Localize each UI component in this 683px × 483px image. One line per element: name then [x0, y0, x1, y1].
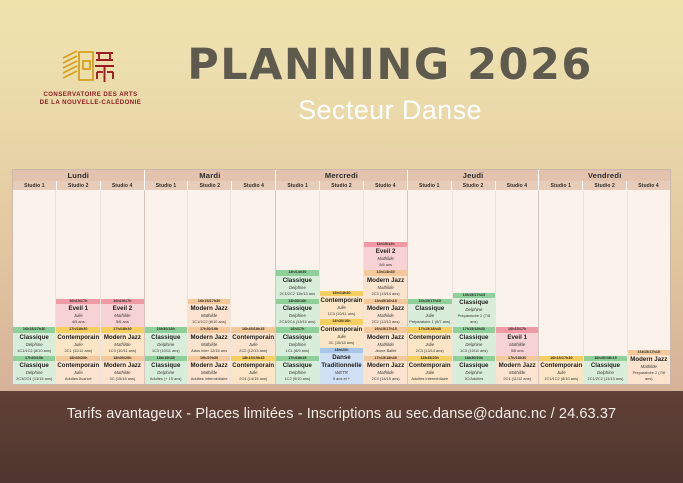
course-name: Classique	[146, 362, 186, 370]
day-header-mardi: Mardi	[145, 170, 277, 181]
course-block[interactable]: 18h30/20hModern JazzMathilde3C (15/18 an…	[101, 356, 143, 384]
course-level: 2C4 (14/15 ans)	[232, 376, 274, 382]
course-name: Classique	[146, 334, 186, 342]
studio-header: Studio 1	[408, 181, 452, 190]
course-body: ContemporainJulie3C (15/18 ans)	[320, 325, 364, 348]
course-block[interactable]: 16h15/17h15Modern JazzMathildeJeune Ball…	[364, 327, 406, 355]
conservatoire-logo-icon	[61, 48, 121, 86]
studio-header: Studio 1	[276, 181, 320, 190]
course-name: Contemporain	[321, 326, 363, 334]
studio-column: 16h15/17h30ContemporainJulie1C1/1C2 (8/1…	[539, 190, 584, 384]
course-body: Danse TraditionnelleWETR5 ans et +	[320, 353, 364, 384]
course-body: Modern JazzMathildeAdultes Intermédiaire	[188, 361, 230, 384]
course-body: Modern JazzMathilde2C4 (14/15 ans)	[364, 361, 406, 384]
schedule-grid: 16h15/17h30ClassiqueDelphine1C1/1C2 (8/1…	[13, 190, 670, 384]
course-body: ClassiqueDelphine2C3/2C4 (13/15 ans)	[276, 304, 318, 327]
course-body: ClassiqueDelphine2C1/2C2 11h/13 ans	[276, 276, 318, 299]
footer-contact-text: Tarifs avantageux - Places limitées - In…	[67, 406, 616, 422]
logo-line-2: DE LA NOUVELLE-CALÉDONIE	[40, 99, 142, 107]
course-level: 2C1 (11/12 ans)	[497, 376, 537, 382]
day-column-vendredi: 16h15/17h30ContemporainJulie1C1/1C2 (8/1…	[539, 190, 670, 384]
course-name: Modern Jazz	[365, 334, 405, 342]
course-body: ContemporainJulie1C3 (10/11 ans)	[320, 296, 364, 319]
studio-column: 16h15/17hEveil 2Mathilde5/6 ans17h/18h30…	[101, 190, 143, 384]
column-spacer	[584, 190, 626, 356]
course-name: Eveil 2	[102, 305, 142, 313]
course-level: Adultes Avancé	[57, 376, 99, 382]
course-level: Adultes Intermédiaire	[409, 376, 451, 382]
course-body: Eveil 1Mathilde5/6 ans	[496, 333, 538, 356]
course-block[interactable]: 16h15/17hEveil 1Mathilde5/6 ans	[496, 327, 538, 355]
course-name: Modern Jazz	[189, 305, 229, 313]
column-spacer	[231, 190, 275, 327]
course-level: Préparatoire 1 (6/7 ans)	[409, 319, 451, 325]
course-name: Contemporain	[232, 362, 274, 370]
course-level: Préparatoire 2 (7/8 ans)	[454, 313, 494, 325]
course-block[interactable]: 13h/14h30ContemporainJulie1C3 (10/11 ans…	[320, 291, 364, 319]
course-name: Danse Traditionnelle	[321, 354, 363, 370]
day-column-mardi: 16h30/18hClassiqueDelphine1C3 (10/11 ans…	[145, 190, 277, 384]
course-block[interactable]: 18h30/20hContemporainJulieAdultes Avancé	[56, 356, 100, 384]
course-level: 3C (15/18 ans)	[321, 340, 363, 346]
course-body: ClassiqueDelphine1C3 (10/11 ans)	[453, 333, 495, 356]
course-level: 2C3 (13/14 ans)	[409, 348, 451, 354]
course-level: 2C1/2C2 11h/13 ans	[277, 291, 317, 297]
course-body: ContemporainJulie2C4 (14/15 ans)	[231, 361, 275, 384]
course-level: 2C1 (11/12 ans)	[57, 348, 99, 354]
course-block[interactable]: 14h45/16h15Modern JazzMathilde2C2 (12/13…	[364, 299, 406, 327]
studio-header: Studio 2	[583, 181, 627, 190]
course-body: Modern JazzMathilde1C3 (10/11 ans)	[101, 333, 143, 356]
course-block[interactable]: 18h/19h30ClassiqueDelphineAdultes (+ 15 …	[145, 356, 187, 384]
course-body: Eveil 2Mathilde5/6 ans	[101, 304, 143, 327]
course-block[interactable]: 16h30/18hClassiqueDelphine1C3 (10/11 ans…	[145, 327, 187, 355]
course-body: Eveil 1Julie4/5 ans	[56, 304, 100, 327]
course-block[interactable]: 17h/18h30Modern JazzMathilde1C3 (10/11 a…	[101, 327, 143, 355]
studio-header-group-jeudi: Studio 1Studio 2Studio 4	[408, 181, 540, 190]
column-spacer	[628, 190, 670, 350]
course-name: Classique	[14, 334, 54, 342]
course-name: Contemporain	[409, 334, 451, 342]
column-spacer	[408, 190, 452, 299]
column-spacer	[188, 190, 230, 299]
course-level: 5/6 ans	[497, 348, 537, 354]
course-body: Modern JazzMathildeJeune Ballet	[364, 333, 406, 356]
course-body: ClassiqueDelphine3C/Adultes	[453, 361, 495, 384]
course-block[interactable]: 19h/20h30Modern JazzMathildeAdultes Inte…	[188, 356, 230, 384]
studio-column: 13h/14h30ContemporainJulie1C3 (10/11 ans…	[320, 190, 365, 384]
course-body: Modern JazzMathilde2C1 (11/12 ans)	[496, 361, 538, 384]
course-name: Classique	[454, 334, 494, 342]
logo-line-1: CONSERVATOIRE DES ARTS	[40, 91, 142, 99]
course-block[interactable]: 17h15/18h45ContemporainJulie2C3 (13/14 a…	[408, 327, 452, 355]
course-name: Classique	[277, 277, 317, 285]
course-name: Classique	[585, 362, 625, 370]
studio-header-group-mercredi: Studio 1Studio 2Studio 4	[276, 181, 408, 190]
studio-header-group-vendredi: Studio 1Studio 2Studio 4	[539, 181, 670, 190]
course-level: Adultes (+ 15 ans)	[146, 376, 186, 382]
course-block[interactable]: 17h15/18h45Modern JazzMathilde2C4 (14/15…	[364, 356, 406, 384]
course-name: Classique	[277, 362, 317, 370]
course-level: 1C1/1C2 (8/10 ans)	[189, 319, 229, 325]
course-block[interactable]: 16h15/17hEveil 2Mathilde5/6 ans	[101, 299, 143, 327]
course-name: Modern Jazz	[189, 362, 229, 370]
poster-footer: Tarifs avantageux - Places limitées - In…	[0, 391, 683, 483]
course-level: 1C1/1C2 (8/10 ans)	[540, 376, 582, 382]
course-body: Modern JazzMathildeAdos Inter 12/15 ans	[188, 333, 230, 356]
column-spacer	[101, 190, 143, 299]
day-header-lundi: Lundi	[13, 170, 145, 181]
studio-header: Studio 4	[496, 181, 539, 190]
course-name: Modern Jazz	[629, 356, 669, 364]
studio-header: Studio 4	[364, 181, 407, 190]
course-block[interactable]: 16h15/17h15Modern JazzMathildePréparatoi…	[628, 350, 670, 384]
course-name: Contemporain	[57, 334, 99, 342]
course-block[interactable]: 17h/18h30Modern JazzMathilde2C1 (11/12 a…	[496, 356, 538, 384]
studio-header: Studio 2	[452, 181, 496, 190]
course-body: ClassiqueDelphinePréparatoire 2 (7/8 ans…	[453, 298, 495, 327]
course-body: ClassiqueJuliePréparatoire 1 (6/7 ans)	[408, 304, 452, 327]
course-name: Contemporain	[57, 362, 99, 370]
course-name: Eveil 2	[365, 248, 405, 256]
course-block[interactable]: 16h15/17h15ClassiqueDelphinePréparatoire…	[453, 293, 495, 327]
course-body: ContemporainJulie2C3 (13/14 ans)	[408, 333, 452, 356]
course-name: Contemporain	[540, 362, 582, 370]
course-level: 2C3 (13/14 ans)	[365, 291, 405, 297]
day-header-jeudi: Jeudi	[408, 170, 540, 181]
course-body: Modern JazzMathilde2C2 (12/13 ans)	[364, 304, 406, 327]
studio-column: 16h45/18h15ContemporainJulie2C2 (12/13 a…	[231, 190, 275, 384]
course-name: Classique	[454, 299, 494, 307]
studio-header: Studio 1	[145, 181, 189, 190]
course-block[interactable]: 17h30/19hClassiqueDelphine2C3/2C4 (13/15…	[13, 356, 55, 384]
studio-column: 16h15/17hEveil 1Julie4/5 ans17h/18h30Con…	[56, 190, 101, 384]
course-level: Jeune Ballet	[365, 348, 405, 354]
studio-column: 16h30/18hClassiqueDelphine1C3 (10/11 ans…	[145, 190, 188, 384]
course-name: Modern Jazz	[102, 334, 142, 342]
course-level: 2C2 (12/13 ans)	[232, 348, 274, 354]
column-spacer	[276, 190, 318, 270]
course-name: Contemporain	[321, 297, 363, 305]
day-header-row: LundiMardiMercrediJeudiVendredi	[13, 170, 670, 181]
course-block[interactable]: 16h/17hClassiqueDelphine1C1 (8/9 ans)	[276, 327, 318, 355]
course-block[interactable]: 11h15/12hEveil 2Mathilde5/6 ans	[364, 242, 406, 270]
course-level: Préparatoire 2 (7/8 ans)	[629, 370, 669, 382]
course-level: 1C3 (10/11 ans)	[146, 348, 186, 354]
column-spacer	[56, 190, 100, 299]
column-spacer	[539, 190, 583, 356]
studio-header: Studio 1	[13, 181, 57, 190]
course-block[interactable]: 14h30/16hContemporainJulie3C (15/18 ans)	[320, 319, 364, 347]
course-name: Modern Jazz	[102, 362, 142, 370]
column-spacer	[320, 190, 364, 291]
studio-header: Studio 2	[57, 181, 101, 190]
course-level: 2C2 (12/13 ans)	[365, 319, 405, 325]
course-level: 4/5 ans	[57, 319, 99, 325]
course-block[interactable]: 13h/14h30ClassiqueDelphine2C1/2C2 11h/13…	[276, 270, 318, 298]
column-spacer	[145, 190, 187, 327]
course-body: ClassiqueDelphine1C2 (9/10 ans)	[276, 361, 318, 384]
day-header-mercredi: Mercredi	[276, 170, 408, 181]
studio-header: Studio 4	[232, 181, 275, 190]
course-level: 5/6 ans	[365, 262, 405, 268]
planning-poster: CONSERVATOIRE DES ARTS DE LA NOUVELLE-CA…	[0, 0, 683, 483]
column-spacer	[453, 190, 495, 293]
studio-header: Studio 2	[320, 181, 364, 190]
studio-column: 16h15/17h15ClassiqueJuliePréparatoire 1 …	[408, 190, 453, 384]
conservatoire-logo: CONSERVATOIRE DES ARTS DE LA NOUVELLE-CA…	[18, 48, 163, 107]
course-name: Modern Jazz	[497, 362, 537, 370]
course-name: Modern Jazz	[365, 362, 405, 370]
studio-header: Studio 4	[627, 181, 670, 190]
course-level: 5/6 ans	[102, 319, 142, 325]
studio-column: 16h15/17hEveil 1Mathilde5/6 ans17h/18h30…	[496, 190, 538, 384]
course-block[interactable]: 13h/14h30Modern JazzMathilde2C3 (13/14 a…	[364, 270, 406, 298]
course-block[interactable]: 14h30/16hClassiqueDelphine2C3/2C4 (13/15…	[276, 299, 318, 327]
course-block[interactable]: 18h45/20hContemporainJulieAdultes Interm…	[408, 356, 452, 384]
course-level: 1C3 (10/11 ans)	[321, 311, 363, 317]
course-block[interactable]: 17h/18h30ContemporainJulie2C1 (11/12 ans…	[56, 327, 100, 355]
course-body: Modern JazzMathildePréparatoire 2 (7/8 a…	[628, 355, 670, 384]
page-title: PLANNING 2026	[160, 42, 620, 88]
title-block: PLANNING 2026 Secteur Danse	[160, 42, 620, 125]
course-name: Classique	[277, 334, 317, 342]
course-block[interactable]: 16h15/17h30ContemporainJulie1C1/1C2 (8/1…	[539, 356, 583, 384]
course-block[interactable]: 16h45/18h15ContemporainJulie2C2 (12/13 a…	[231, 327, 275, 355]
course-body: Modern JazzMathilde3C (15/18 ans)	[101, 361, 143, 384]
course-block[interactable]: 16h15/17h15ClassiqueJuliePréparatoire 1 …	[408, 299, 452, 327]
poster-header: CONSERVATOIRE DES ARTS DE LA NOUVELLE-CA…	[0, 0, 683, 165]
studio-column: 16h15/17h30Modern JazzMathilde1C1/1C2 (8…	[188, 190, 231, 384]
course-body: Eveil 2Mathilde5/6 ans	[364, 247, 406, 270]
studio-header: Studio 1	[539, 181, 583, 190]
studio-header: Studio 2	[188, 181, 232, 190]
column-spacer	[364, 190, 406, 242]
course-level: Adultes Intermédiaire	[189, 376, 229, 382]
course-body: ContemporainJulieAdultes Intermédiaire	[408, 361, 452, 384]
course-level: 2C3/2C4 (13/15 ans)	[277, 319, 317, 325]
course-body: ContemporainJulieAdultes Avancé	[56, 361, 100, 384]
day-header-vendredi: Vendredi	[539, 170, 670, 181]
studio-column: 11h15/12hEveil 2Mathilde5/6 ans13h/14h30…	[364, 190, 406, 384]
course-body: ContemporainJulie2C2 (12/13 ans)	[231, 333, 275, 356]
studio-header-group-mardi: Studio 1Studio 2Studio 4	[145, 181, 277, 190]
course-block[interactable]: 18h30/20hClassiqueDelphine3C/Adultes	[453, 356, 495, 384]
course-name: Classique	[454, 362, 494, 370]
studio-column: 16h15/17h15ClassiqueDelphinePréparatoire…	[453, 190, 496, 384]
studio-column: 16h15/17h30ClassiqueDelphine1C1/1C2 (8/1…	[13, 190, 56, 384]
course-level: 1C3 (10/11 ans)	[102, 348, 142, 354]
course-body: ClassiqueDelphine1C1 (8/9 ans)	[276, 333, 318, 356]
course-block[interactable]: 16h45/18h15ClassiqueDelphine2C1/2C2 (11/…	[584, 356, 626, 384]
studio-column: 16h15/17h15Modern JazzMathildePréparatoi…	[628, 190, 670, 384]
day-column-lundi: 16h15/17h30ClassiqueDelphine1C1/1C2 (8/1…	[13, 190, 145, 384]
course-level: 1C2 (9/10 ans)	[277, 376, 317, 382]
studio-header-row: Studio 1Studio 2Studio 4Studio 1Studio 2…	[13, 181, 670, 190]
course-block[interactable]: 17h30/19hModern JazzMathildeAdos Inter 1…	[188, 327, 230, 355]
course-level: 3C (15/18 ans)	[102, 376, 142, 382]
course-block[interactable]: 16h15/17h30ClassiqueDelphine1C1/1C2 (8/1…	[13, 327, 55, 355]
course-body: ClassiqueDelphine1C1/1C2 (8/10 ans)	[13, 333, 55, 356]
studio-header-group-lundi: Studio 1Studio 2Studio 4	[13, 181, 145, 190]
course-name: Classique	[409, 305, 451, 313]
studio-header: Studio 4	[101, 181, 144, 190]
schedule-table: LundiMardiMercrediJeudiVendredi Studio 1…	[12, 169, 671, 385]
course-body: ClassiqueDelphine2C1/2C2 (11/13 ans)	[584, 361, 626, 384]
course-name: Modern Jazz	[365, 305, 405, 313]
course-level: 2C4 (14/15 ans)	[365, 376, 405, 382]
course-block[interactable]: 16h15/17hEveil 1Julie4/5 ans	[56, 299, 100, 327]
course-body: ContemporainJulie2C1 (11/12 ans)	[56, 333, 100, 356]
course-block[interactable]: 18h15/19h45ContemporainJulie2C4 (14/15 a…	[231, 356, 275, 384]
course-name: Contemporain	[409, 362, 451, 370]
day-column-mercredi: 13h/14h30ClassiqueDelphine2C1/2C2 11h/13…	[276, 190, 408, 384]
course-body: ClassiqueDelphine2C3/2C4 (13/15 ans)	[13, 361, 55, 384]
course-level: 1C1/1C2 (8/10 ans)	[14, 348, 54, 354]
studio-column: 13h/14h30ClassiqueDelphine2C1/2C2 11h/13…	[276, 190, 319, 384]
day-column-jeudi: 16h15/17h15ClassiqueJuliePréparatoire 1 …	[408, 190, 540, 384]
course-body: ContemporainJulie1C1/1C2 (8/10 ans)	[539, 361, 583, 384]
course-body: ClassiqueDelphineAdultes (+ 15 ans)	[145, 361, 187, 384]
course-name: Eveil 1	[57, 305, 99, 313]
course-level: 2C1/2C2 (11/13 ans)	[585, 376, 625, 382]
column-spacer	[13, 190, 55, 327]
course-block[interactable]: 18h/20hDanse TraditionnelleWETR5 ans et …	[320, 348, 364, 384]
course-block[interactable]: 17h/18h15ClassiqueDelphine1C2 (9/10 ans)	[276, 356, 318, 384]
column-spacer	[496, 190, 538, 327]
course-block[interactable]: 16h15/17h30Modern JazzMathilde1C1/1C2 (8…	[188, 299, 230, 327]
course-body: ClassiqueDelphine1C3 (10/11 ans)	[145, 333, 187, 356]
course-level: 3C/Adultes	[454, 376, 494, 382]
course-name: Classique	[14, 362, 54, 370]
page-subtitle: Secteur Danse	[160, 95, 620, 125]
course-level: 2C3/2C4 (13/15 ans)	[14, 376, 54, 382]
studio-column: 16h45/18h15ClassiqueDelphine2C1/2C2 (11/…	[584, 190, 627, 384]
course-name: Eveil 1	[497, 334, 537, 342]
course-name: Modern Jazz	[365, 277, 405, 285]
course-level: 1C3 (10/11 ans)	[454, 348, 494, 354]
course-name: Modern Jazz	[189, 334, 229, 342]
course-name: Contemporain	[232, 334, 274, 342]
course-body: Modern JazzMathilde2C3 (13/14 ans)	[364, 276, 406, 299]
course-body: Modern JazzMathilde1C1/1C2 (8/10 ans)	[188, 304, 230, 327]
logo-wordmark: CONSERVATOIRE DES ARTS DE LA NOUVELLE-CA…	[40, 91, 142, 107]
course-block[interactable]: 17h15/18h30ClassiqueDelphine1C3 (10/11 a…	[453, 327, 495, 355]
course-name: Classique	[277, 305, 317, 313]
course-level: 5 ans et +	[321, 376, 363, 382]
course-level: 1C1 (8/9 ans)	[277, 348, 317, 354]
course-level: Ados Inter 12/15 ans	[189, 348, 229, 354]
